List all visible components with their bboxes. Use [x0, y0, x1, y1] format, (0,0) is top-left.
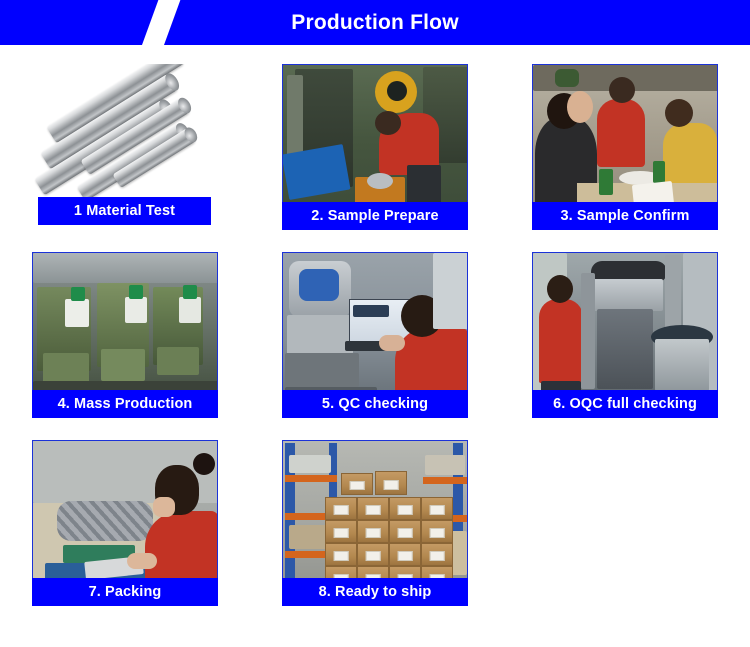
step-6-label: 6. OQC full checking [532, 390, 718, 418]
flow-row-2: 4. Mass Production [0, 252, 750, 440]
step-2-label: 2. Sample Prepare [282, 202, 468, 230]
flow-step-3[interactable]: 3. Sample Confirm [500, 64, 750, 252]
production-flow-grid: 1 Material Test [0, 45, 750, 628]
flow-row-3: 7. Packing [0, 440, 750, 628]
flow-row-1: 1 Material Test [0, 64, 750, 252]
flow-step-8[interactable]: 8. Ready to ship [250, 440, 500, 628]
flow-step-1[interactable]: 1 Material Test [0, 64, 250, 252]
step-4-label: 4. Mass Production [32, 390, 218, 418]
step-7-label: 7. Packing [32, 578, 218, 606]
flow-empty-cell [500, 440, 750, 628]
flow-step-2[interactable]: 2. Sample Prepare [250, 64, 500, 252]
step-1-label: 1 Material Test [38, 197, 211, 225]
page-header: Production Flow [0, 0, 750, 45]
page-title: Production Flow [0, 0, 750, 45]
flow-step-6[interactable]: 6. OQC full checking [500, 252, 750, 440]
flow-step-4[interactable]: 4. Mass Production [0, 252, 250, 440]
flow-step-5[interactable]: 5. QC checking [250, 252, 500, 440]
step-5-label: 5. QC checking [282, 390, 468, 418]
flow-step-7[interactable]: 7. Packing [0, 440, 250, 628]
step-8-label: 8. Ready to ship [282, 578, 468, 606]
step-3-label: 3. Sample Confirm [532, 202, 718, 230]
